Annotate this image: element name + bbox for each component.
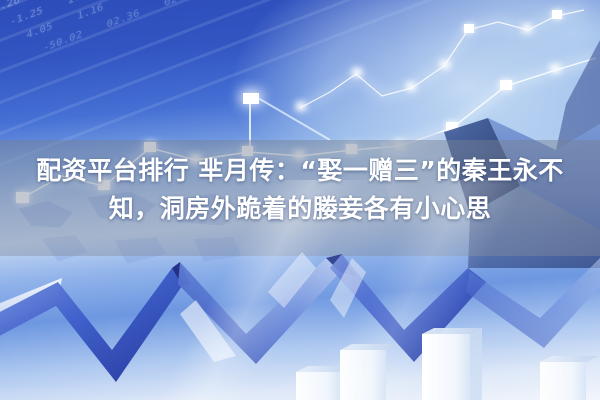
bar-group — [296, 328, 598, 400]
ticker-value: -02.36 — [0, 0, 17, 6]
ticker-row: -02.36-50.0226.3210.021.16 — [0, 0, 403, 11]
ticker-value: -50.02 — [127, 0, 168, 7]
ticker-row: 4.051.16-50.02-26.3202.32 — [0, 0, 408, 68]
ticker-value: 02.32 — [163, 0, 197, 13]
headline: 配资平台排行 芈月传：“娶一赠三”的秦王永不 知，洞房外跪着的媵妾各有小心思 — [0, 152, 600, 228]
ticker-value: 02.36 — [106, 3, 140, 34]
ticker-value: 4.05 — [26, 17, 54, 46]
ticker-value: 1.16 — [77, 0, 105, 26]
ticker-row: -1.251.254.25-02.3626.32 — [0, 0, 406, 49]
thumbnail-canvas: -02.35-11.25+5.0245.024.36-02.36-50.0226… — [0, 0, 600, 400]
headline-line-1: 配资平台排行 芈月传：“娶一赠三”的秦王永不 — [26, 152, 574, 190]
ticker-value: 2.26 — [0, 0, 21, 19]
headline-line-2: 知，洞房外跪着的媵妾各有小心思 — [26, 190, 574, 228]
ticker-row: -50.0202.3602.3202.360.35 — [0, 0, 409, 86]
ticker-value: 1.25 — [67, 0, 95, 11]
ticker-value: -1.25 — [9, 1, 43, 32]
ticker-value: -50.02 — [42, 25, 83, 58]
stock-ticker-numbers: -02.35-11.25+5.0245.024.36-02.36-50.0226… — [0, 0, 416, 170]
ticker-row: 2.26-11.26+5.02-02.36-50.02 — [0, 0, 405, 30]
